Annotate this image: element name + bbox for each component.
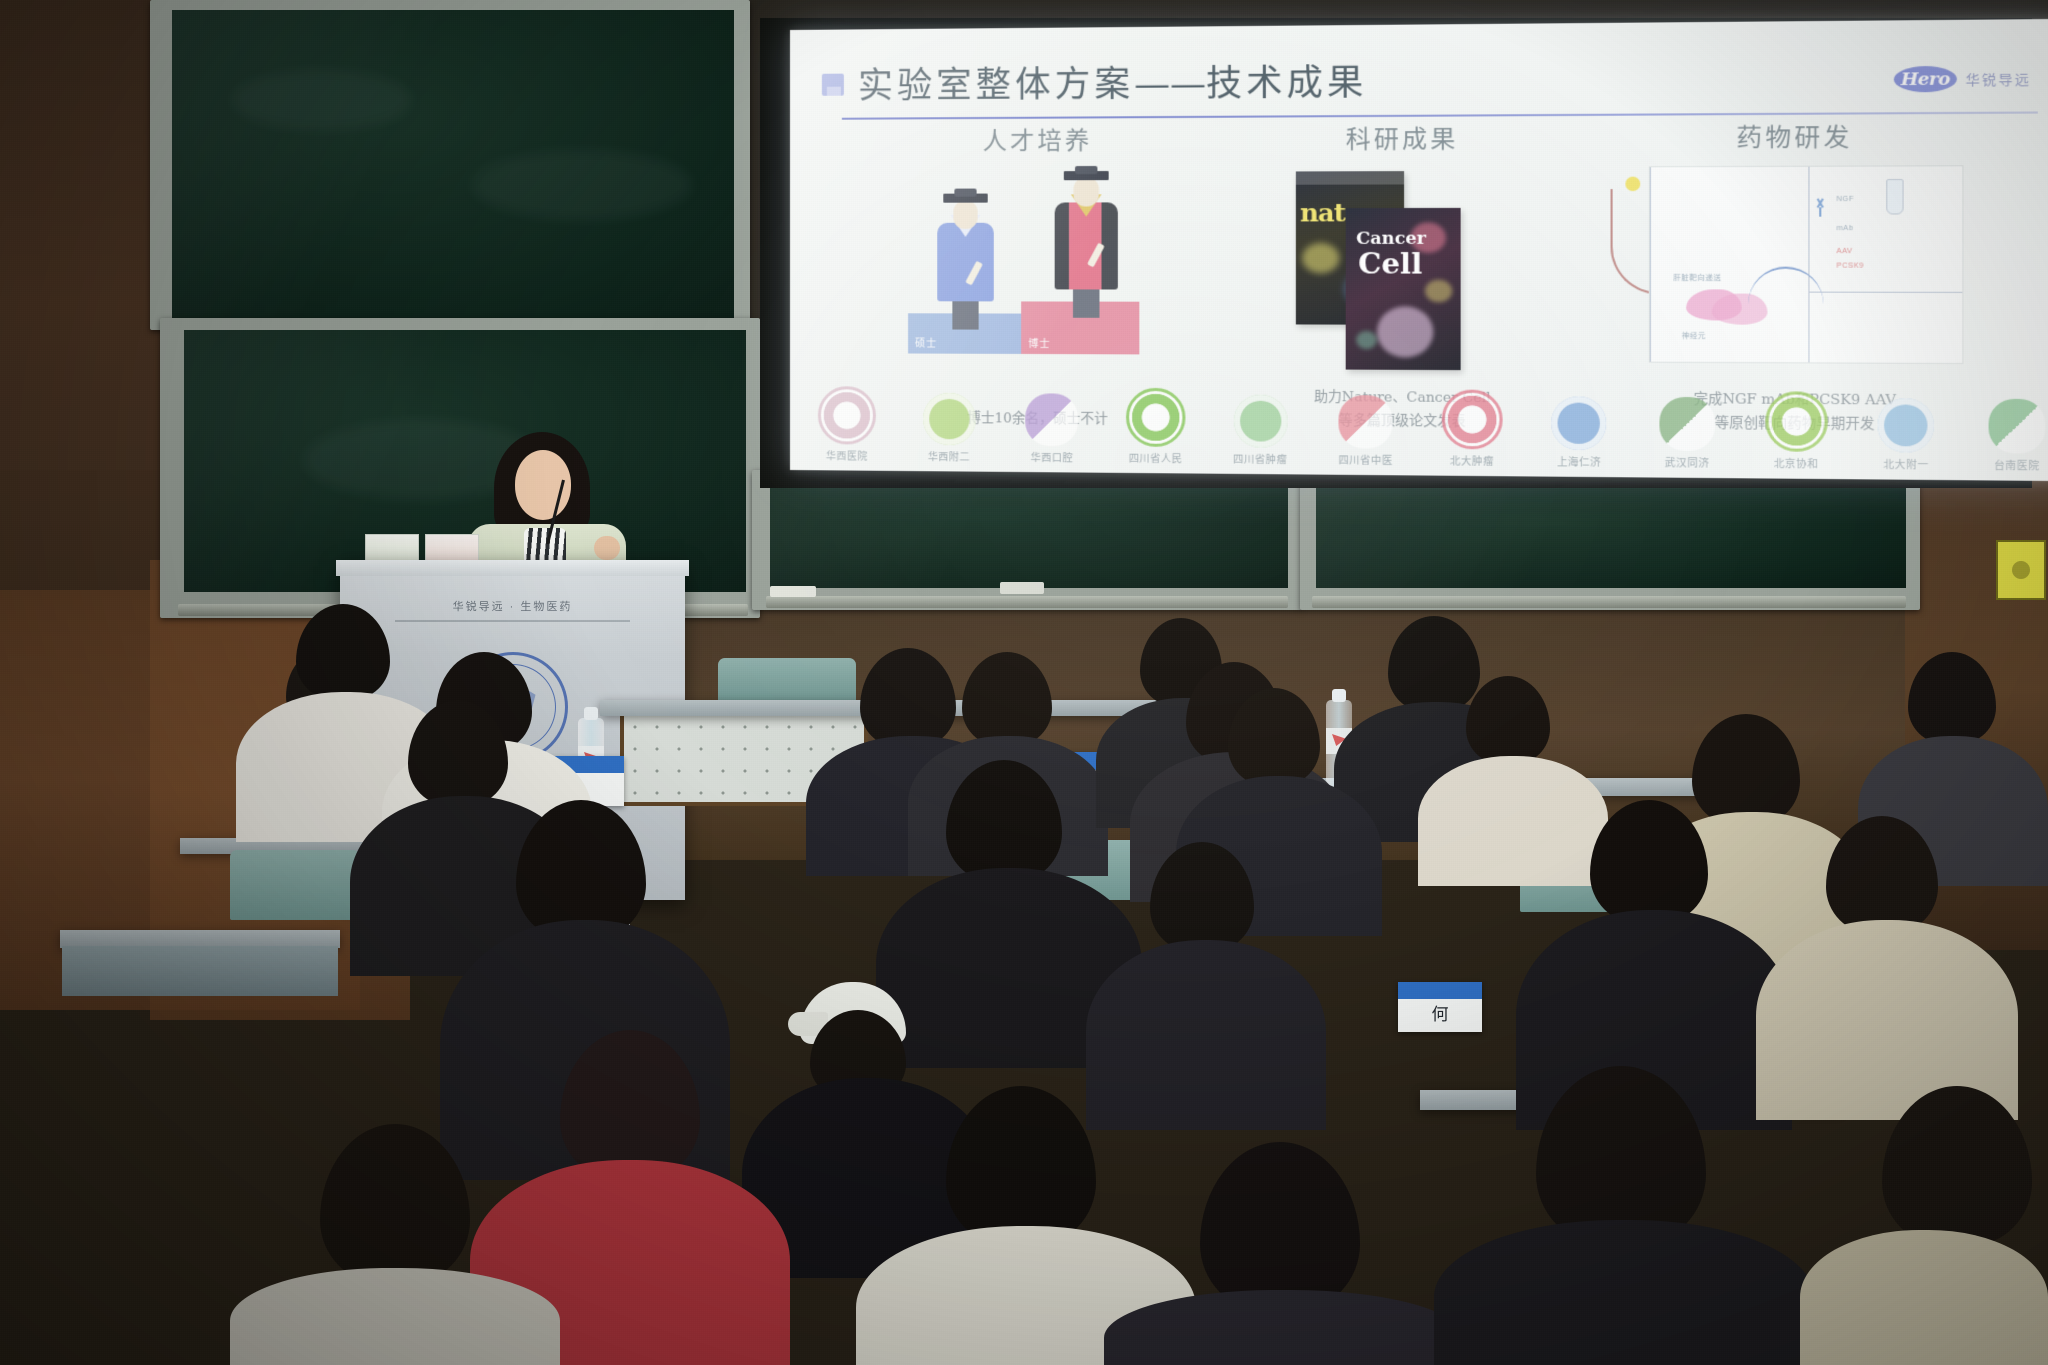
projection-screen: 实验室整体方案——技术成果 Hero 华锐导远 人才培养 硕士 xyxy=(790,19,2048,481)
partner-logo-item: 上海仁济 xyxy=(1534,396,1625,469)
pedestal-master-label: 硕士 xyxy=(915,334,937,349)
diagram-label: 神经元 xyxy=(1682,331,1706,341)
vial-icon xyxy=(1886,179,1903,215)
slide-title-bullet-icon xyxy=(822,74,844,96)
graduate-figure-master xyxy=(930,186,1001,329)
drug-pipeline-illustration: NGF mAb AAV PCSK9 肝脏靶向递送 神经元 xyxy=(1602,165,1990,364)
brand-logo-icon: Hero xyxy=(1894,66,1957,93)
partner-logo-icon xyxy=(1878,398,1934,453)
partner-logo-strip: 华西医院华西附二华西口腔四川省人民四川省肿瘤四川省中医北大肿瘤上海仁济武汉同济北… xyxy=(804,380,2048,473)
presentation-slide: 实验室整体方案——技术成果 Hero 华锐导远 人才培养 硕士 xyxy=(790,19,2048,481)
partner-logo-item: 北大肿瘤 xyxy=(1427,389,1517,468)
chair-backrest xyxy=(718,658,856,702)
audience-shoulders xyxy=(1086,940,1326,1130)
chalk-eraser xyxy=(1000,582,1044,594)
partner-logo-label: 四川省肿瘤 xyxy=(1233,450,1287,466)
partner-logo-icon xyxy=(1552,396,1607,450)
journal-title-line2: Cell xyxy=(1358,247,1422,281)
partner-logo-item: 华西附二 xyxy=(906,393,993,464)
partner-logo-label: 四川省人民 xyxy=(1129,450,1183,466)
brand-chinese-name: 华锐导远 xyxy=(1966,69,2032,89)
graduates-illustration: 硕士 博士 xyxy=(856,168,1222,361)
board-sheen xyxy=(770,478,1288,588)
diagram-label: PCSK9 xyxy=(1836,262,1864,269)
name-card-text: 何 xyxy=(1398,1000,1482,1025)
partner-logo-icon xyxy=(1126,388,1185,447)
column-heading: 人才培养 xyxy=(856,120,1222,157)
audience-shoulders xyxy=(1800,1230,2048,1365)
partner-logo-icon xyxy=(1988,399,2045,454)
journal-cover-cancer-cell: Cancer Cell xyxy=(1346,208,1461,370)
partner-logo-item: 四川省人民 xyxy=(1112,388,1200,466)
partner-logo-label: 北京协和 xyxy=(1774,455,1819,471)
partner-logo-icon xyxy=(923,393,975,446)
chalkboard-right-frame xyxy=(1300,480,1920,610)
desk-front-panel xyxy=(62,946,338,996)
pipeline-diagram-panel: NGF mAb AAV PCSK9 肝脏靶向递送 神经元 xyxy=(1649,165,1964,364)
name-card: 何 xyxy=(1398,982,1482,1032)
slide-title-sub: 技术成果 xyxy=(1206,63,1368,105)
column-talent: 人才培养 硕士 博士 xyxy=(856,120,1222,425)
audience-shoulders xyxy=(230,1268,560,1365)
partner-logo-item: 四川省中医 xyxy=(1321,395,1411,467)
partner-logo-item: 华西医院 xyxy=(804,386,890,463)
diagram-label: mAb xyxy=(1836,225,1853,232)
chalk-rail xyxy=(1312,596,1906,608)
audience-shoulders xyxy=(1418,756,1608,886)
slide-title-main: 实验室整体方案 xyxy=(858,65,1134,107)
board-sheen xyxy=(1316,488,1906,588)
partner-logo-icon xyxy=(818,386,876,445)
slide-title: 实验室整体方案——技术成果 xyxy=(858,54,1368,109)
antibody-icon xyxy=(1811,198,1830,217)
chalk-smudge xyxy=(232,70,412,130)
partner-logo-icon xyxy=(1441,390,1502,450)
chalk-smudge xyxy=(472,150,692,220)
chalkboard-left-upper-frame xyxy=(150,0,750,330)
audience-head xyxy=(946,1086,1096,1246)
brand-lockup: Hero 华锐导远 xyxy=(1894,65,2031,92)
partner-logo-label: 武汉同济 xyxy=(1665,454,1710,470)
audience-shoulders xyxy=(1434,1220,1814,1365)
partner-logo-label: 上海仁济 xyxy=(1557,453,1601,469)
partner-logo-item: 武汉同济 xyxy=(1641,397,1733,470)
lecture-hall-photo: 实验室整体方案——技术成果 Hero 华锐导远 人才培养 硕士 xyxy=(0,0,2048,1365)
partner-logo-label: 北大附一 xyxy=(1883,456,1929,472)
partner-logo-label: 台南医院 xyxy=(1994,456,2040,472)
lectern-plate-text: 华锐导远 · 生物医药 xyxy=(340,598,685,614)
partner-logo-icon xyxy=(1659,397,1715,451)
diagram-label: AAV xyxy=(1836,248,1852,255)
wall-warning-sign xyxy=(1996,540,2046,600)
partner-logo-label: 北大肿瘤 xyxy=(1450,452,1494,468)
presenter-hand xyxy=(594,536,620,560)
partner-logo-item: 北京协和 xyxy=(1750,391,1843,471)
partner-logo-label: 华西医院 xyxy=(826,447,868,462)
lectern-top-edge xyxy=(336,560,689,576)
presenter xyxy=(466,428,626,578)
diagram-arc xyxy=(1748,267,1823,305)
partner-logo-icon xyxy=(1233,394,1287,447)
pedestal-doctor-label: 博士 xyxy=(1028,335,1050,350)
partner-logo-icon xyxy=(1339,395,1393,449)
partner-logo-icon xyxy=(1025,393,1078,446)
chalkboard-center-surface xyxy=(770,478,1288,588)
slide-title-dash: —— xyxy=(1134,64,1206,105)
graduate-figure-doctor xyxy=(1048,164,1125,318)
partner-logo-item: 四川省肿瘤 xyxy=(1216,394,1305,466)
partner-logo-item: 华西口腔 xyxy=(1008,393,1095,464)
chalkboard-left-upper-surface xyxy=(172,10,734,318)
audience-head xyxy=(1200,1142,1360,1312)
column-research: 科研成果 nature Cance xyxy=(1215,118,1591,428)
journal-title-line1: Cancer xyxy=(1356,228,1426,249)
partner-logo-label: 华西附二 xyxy=(928,448,970,463)
diagram-label: NGF xyxy=(1836,196,1854,203)
journal-covers-illustration: nature Cancer Cell xyxy=(1215,166,1591,362)
lectern-divider xyxy=(395,620,630,622)
chalkboard-right-surface xyxy=(1316,488,1906,588)
diagram-label: 肝脏靶向递送 xyxy=(1673,273,1721,283)
partner-logo-icon xyxy=(1765,391,1827,452)
chalk-rail xyxy=(766,596,1288,608)
partner-logo-item: 北大附一 xyxy=(1859,398,1952,472)
chair-backrest xyxy=(230,850,360,920)
slide-header: 实验室整体方案——技术成果 Hero 华锐导远 xyxy=(820,46,2048,114)
column-heading: 药物研发 xyxy=(1602,116,1990,154)
column-drug-rd: 药物研发 NGF mAb AAV PC xyxy=(1602,116,1990,430)
chalk-eraser xyxy=(770,586,816,597)
partner-logo-item: 台南医院 xyxy=(1970,399,2048,473)
partner-logo-label: 四川省中医 xyxy=(1338,451,1393,467)
partner-logo-label: 华西口腔 xyxy=(1031,449,1074,465)
column-heading: 科研成果 xyxy=(1215,118,1591,155)
